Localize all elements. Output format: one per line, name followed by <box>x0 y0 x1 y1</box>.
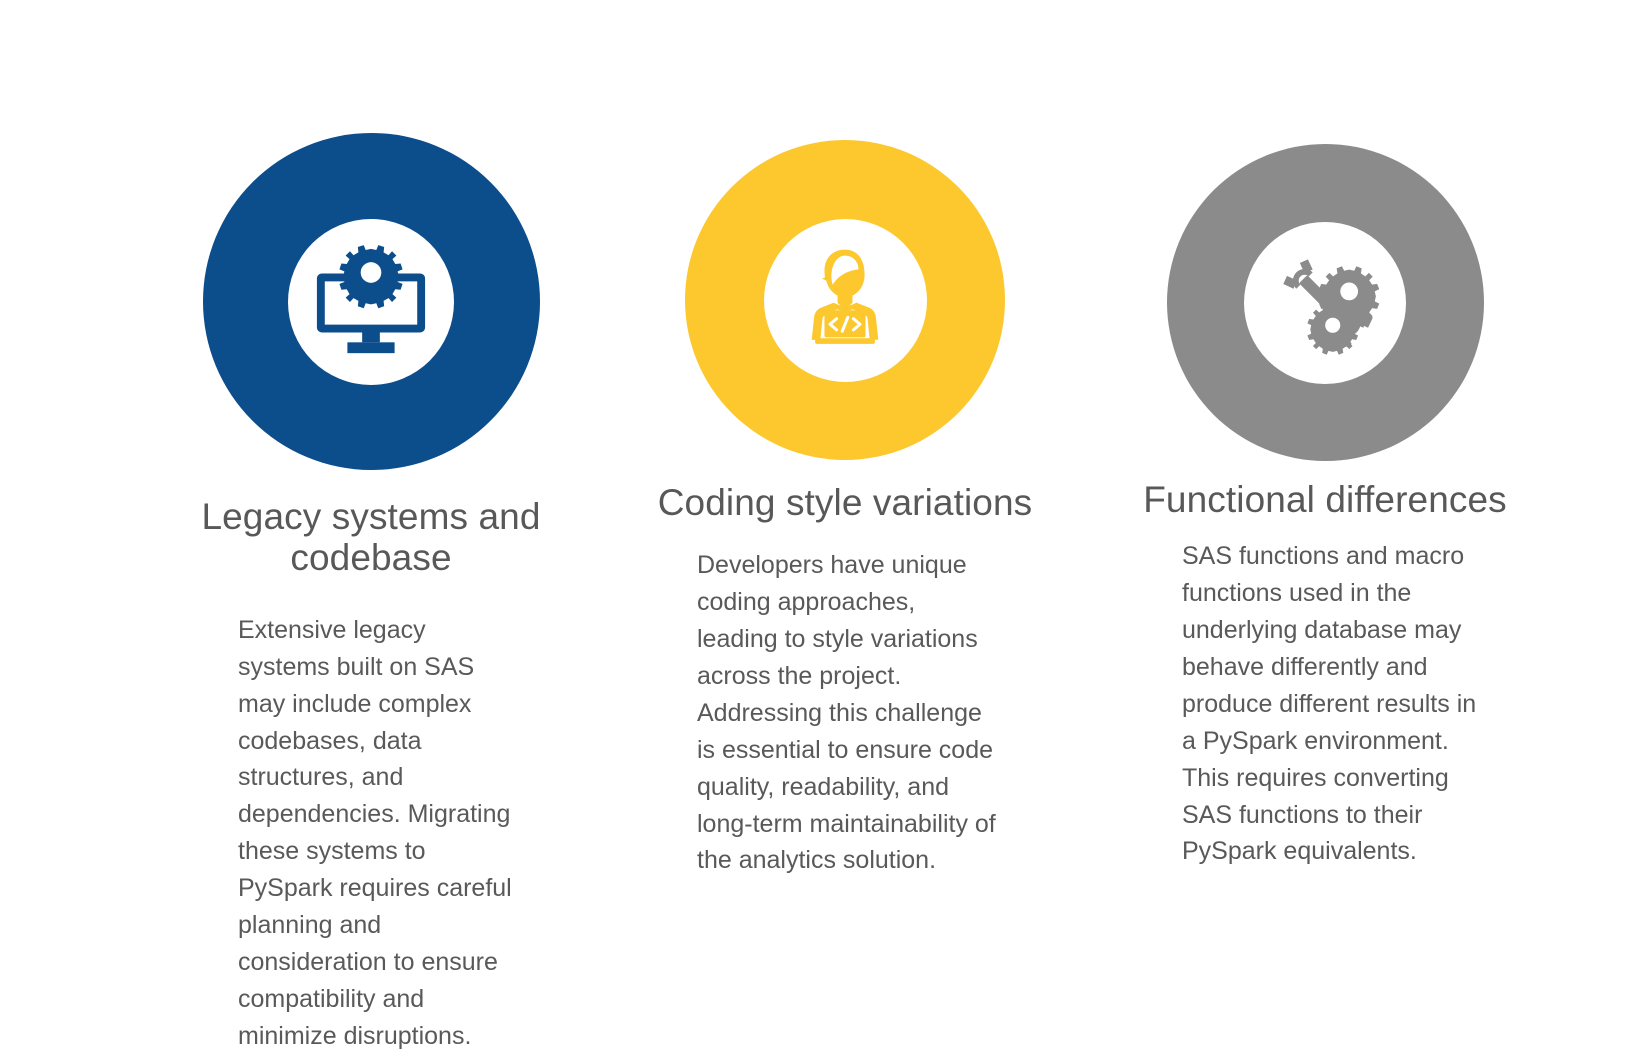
accent-circle-gray <box>1167 144 1484 461</box>
card-body-legacy-systems: Extensive legacy systems built on SAS ma… <box>238 612 524 1054</box>
infographic-root: Legacy systems and codebase Extensive le… <box>0 0 1631 985</box>
inner-white-disc <box>288 219 454 385</box>
monitor-gear-icon <box>312 243 430 361</box>
card-heading-legacy-systems: Legacy systems and codebase <box>161 496 581 579</box>
card-functional-differences: Functional differences SAS functions and… <box>1075 133 1575 870</box>
card-coding-style: Coding style variations Developers have … <box>600 133 1090 879</box>
accent-circle-blue <box>203 133 540 470</box>
inner-white-disc <box>1244 222 1406 384</box>
icon-circle-wrapper-functional-differences <box>1167 133 1484 461</box>
developer-laptop-code-icon <box>789 244 901 356</box>
card-heading-functional-differences: Functional differences <box>1125 479 1525 520</box>
card-legacy-systems: Legacy systems and codebase Extensive le… <box>125 133 617 1054</box>
inner-white-disc <box>764 219 927 382</box>
wrench-gears-icon <box>1267 245 1383 361</box>
icon-circle-wrapper-coding-style <box>685 133 1005 460</box>
card-body-coding-style: Developers have unique coding approaches… <box>697 547 999 879</box>
card-heading-coding-style: Coding style variations <box>645 482 1045 523</box>
icon-circle-wrapper-legacy-systems <box>203 133 540 470</box>
accent-circle-yellow <box>685 140 1005 460</box>
card-body-functional-differences: SAS functions and macro functions used i… <box>1182 538 1482 870</box>
